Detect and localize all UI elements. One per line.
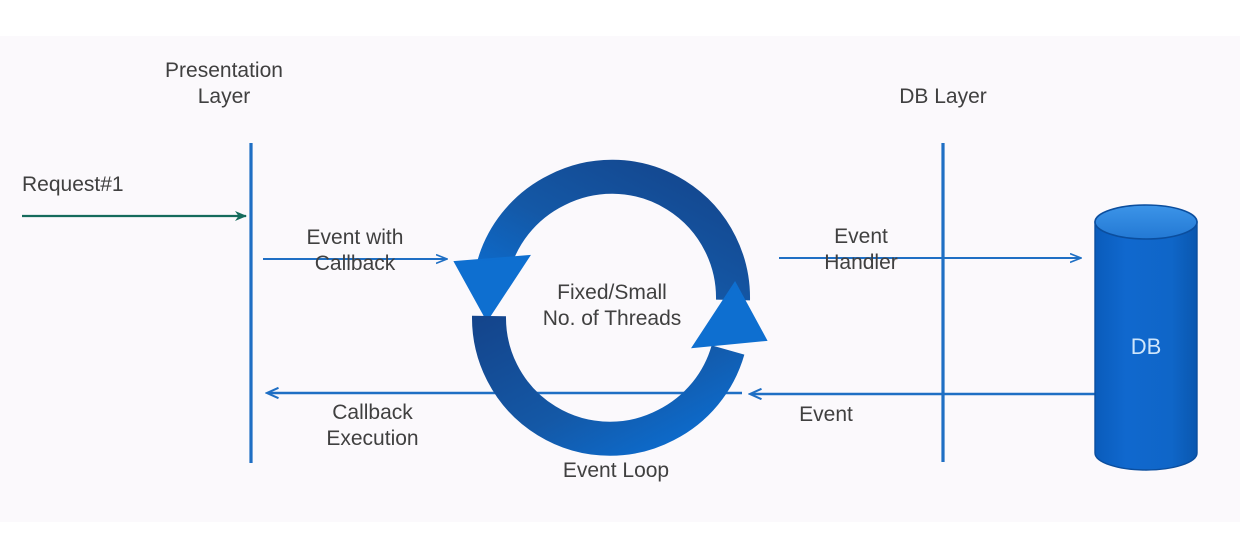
presentation-layer-label: Presentation Layer xyxy=(146,58,302,110)
event-loop-caption: Event Loop xyxy=(518,458,714,484)
event-with-callback-label: Event with Callback xyxy=(265,225,445,277)
event-label: Event xyxy=(770,402,882,428)
callback-execution-label: Callback Execution xyxy=(285,400,460,452)
db-label: DB xyxy=(1095,334,1197,360)
event-handler-label: Event Handler xyxy=(782,224,940,276)
db-layer-label: DB Layer xyxy=(863,84,1023,110)
request-label: Request#1 xyxy=(22,172,202,198)
diagram-page: Presentation Layer DB Layer Request#1 Ev… xyxy=(0,0,1240,548)
threads-label: Fixed/Small No. of Threads xyxy=(498,280,726,332)
